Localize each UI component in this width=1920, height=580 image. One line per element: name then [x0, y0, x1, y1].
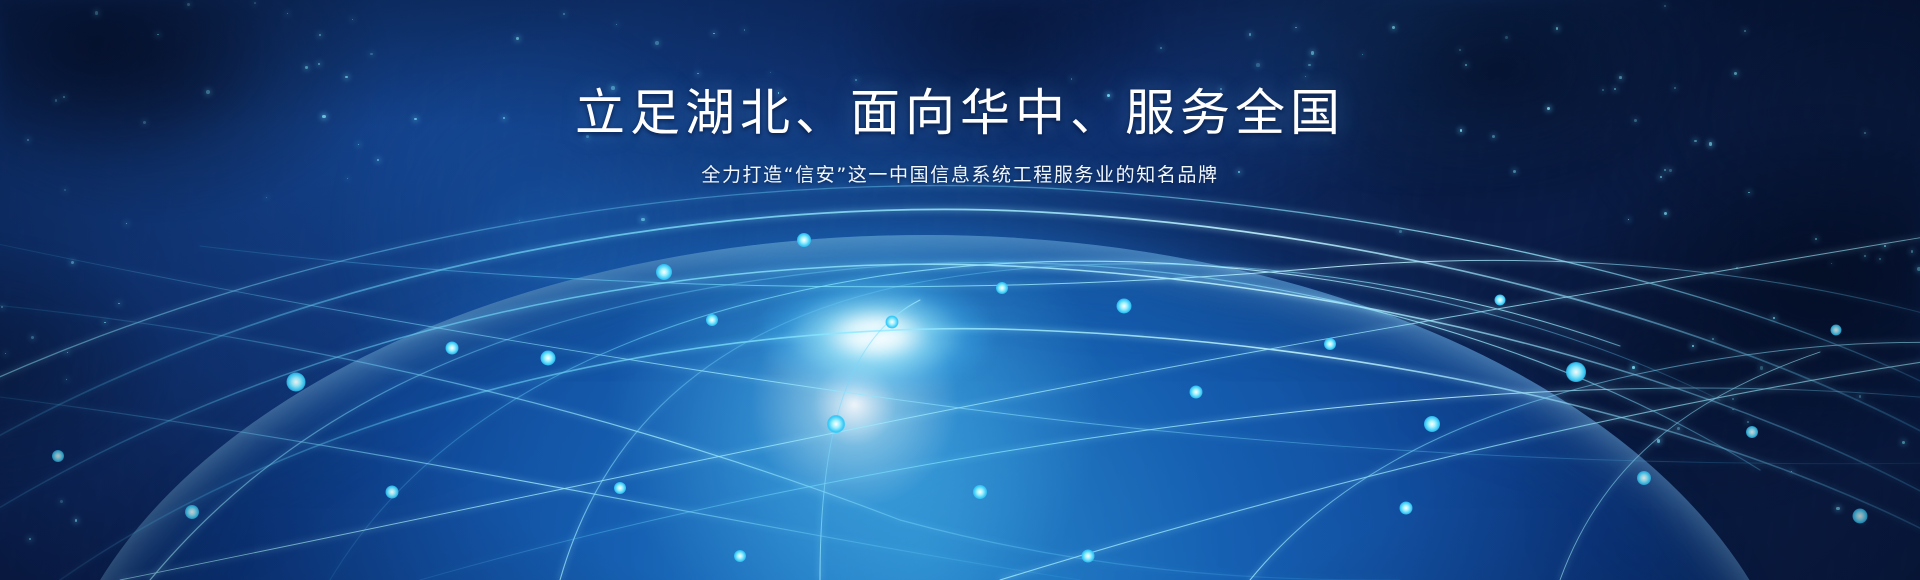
network-node [886, 316, 899, 329]
network-node [656, 264, 672, 280]
network-node [185, 505, 199, 519]
network-node [996, 282, 1008, 294]
network-node [287, 373, 306, 392]
hero-subheadline: 全力打造“信安”这一中国信息系统工程服务业的知名品牌 [0, 161, 1920, 190]
network-node [52, 450, 64, 462]
hero-banner: 立足湖北、面向华中、服务全国 全力打造“信安”这一中国信息系统工程服务业的知名品… [0, 0, 1920, 580]
network-node [1566, 362, 1586, 382]
network-node [827, 415, 845, 433]
network-node [706, 314, 718, 326]
network-node [1190, 386, 1203, 399]
network-node [1831, 325, 1842, 336]
network-node [734, 550, 746, 562]
network-node [973, 485, 987, 499]
network-node [1400, 502, 1413, 515]
network-node [1324, 338, 1336, 350]
network-node [1117, 299, 1132, 314]
network-node [1853, 509, 1868, 524]
hero-text-block: 立足湖北、面向华中、服务全国 全力打造“信安”这一中国信息系统工程服务业的知名品… [0, 84, 1920, 190]
network-node [1746, 426, 1758, 438]
network-node [797, 233, 811, 247]
hero-headline: 立足湖北、面向华中、服务全国 [0, 84, 1920, 143]
network-node [446, 342, 459, 355]
network-node [1637, 471, 1651, 485]
network-node [1082, 550, 1095, 563]
network-node [541, 351, 556, 366]
network-node [386, 486, 399, 499]
network-node [1495, 295, 1506, 306]
network-node [614, 482, 626, 494]
network-node [1424, 416, 1440, 432]
